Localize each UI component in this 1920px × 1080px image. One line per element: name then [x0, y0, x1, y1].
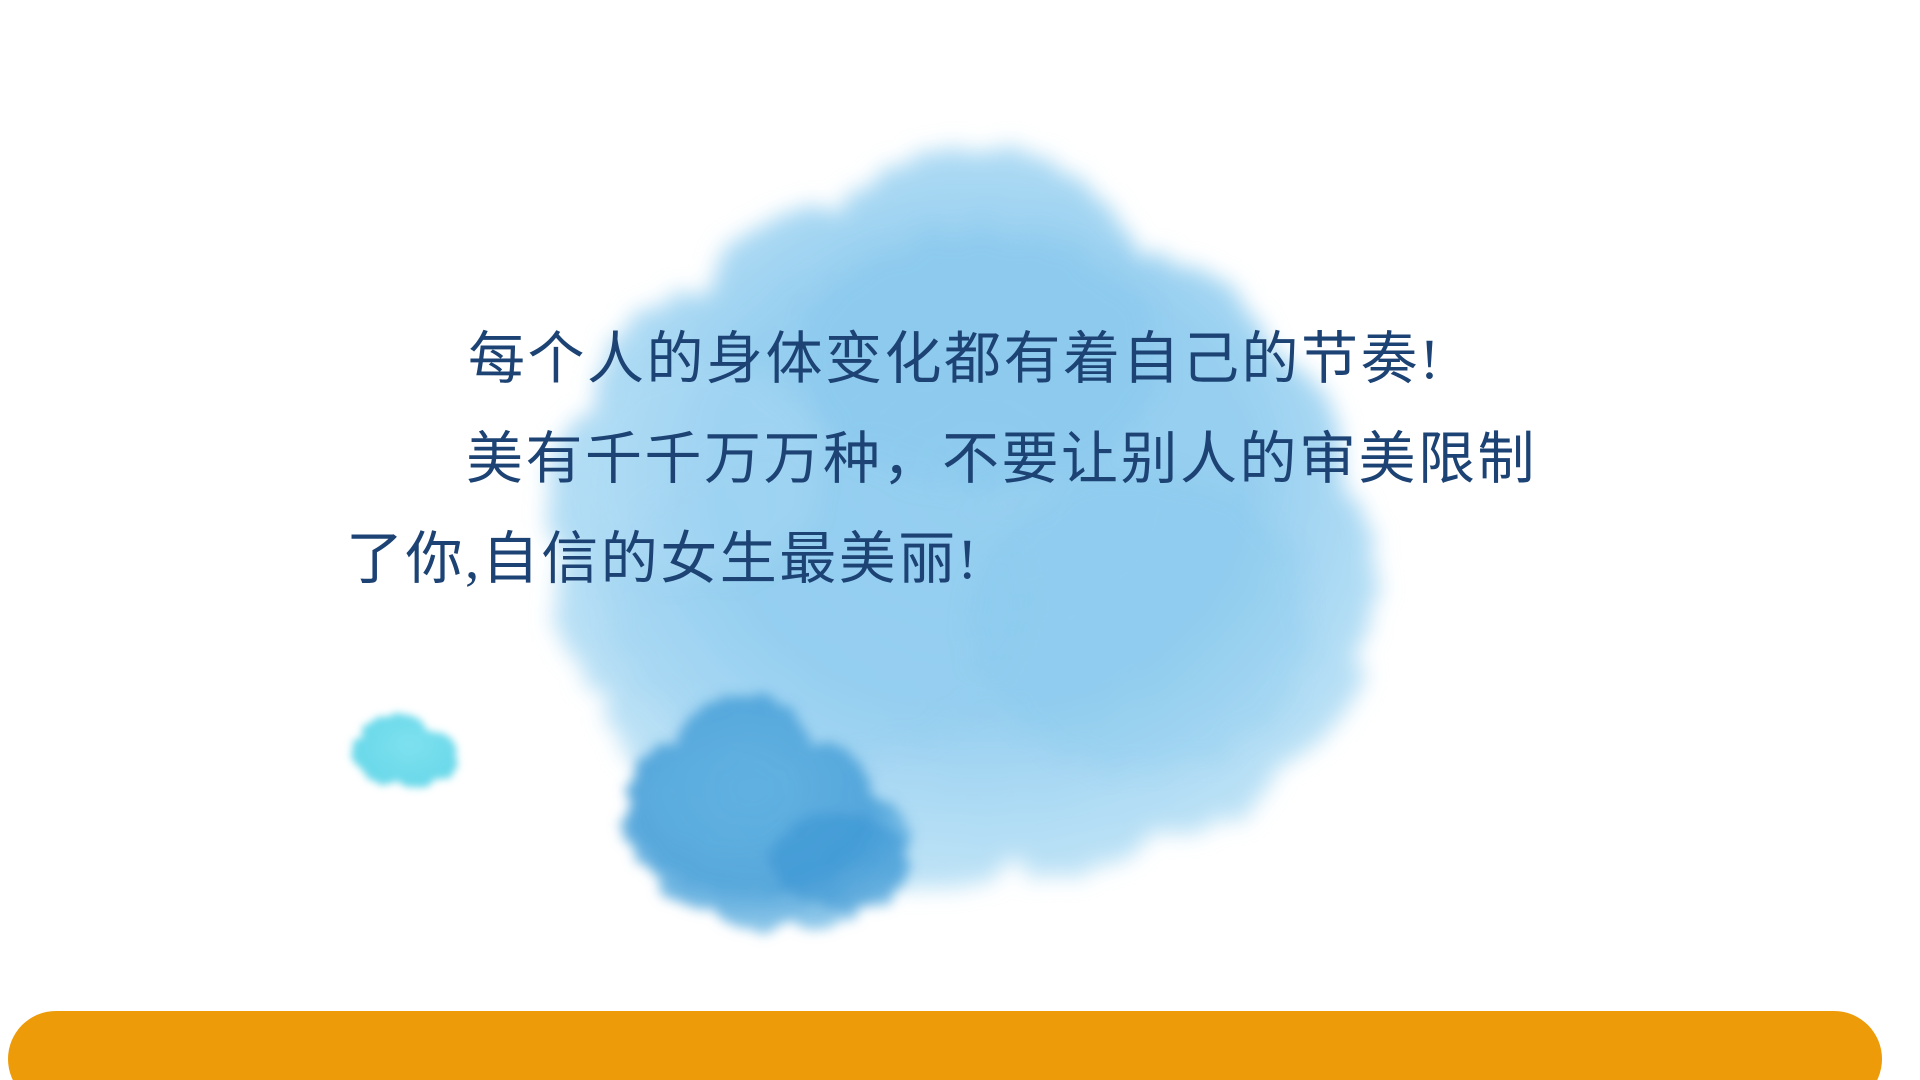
quote-text-block: 每个人的身体变化都有着自己的节奏! 美有千千万万种，不要让别人的审美限制 了你,…: [0, 310, 1920, 610]
quote-line-2: 美有千千万万种，不要让别人的审美限制: [408, 410, 1680, 510]
quote-line-1: 每个人的身体变化都有着自己的节奏!: [408, 310, 1680, 410]
watercolor-cloud-small-shape: [600, 680, 930, 950]
slide-canvas: 每个人的身体变化都有着自己的节奏! 美有千千万万种，不要让别人的审美限制 了你,…: [0, 0, 1920, 1080]
quote-line-3: 了你,自信的女生最美丽!: [408, 510, 1680, 610]
bottom-accent-bar: [8, 1011, 1882, 1080]
watercolor-cloud-tiny-shape: [340, 700, 480, 800]
